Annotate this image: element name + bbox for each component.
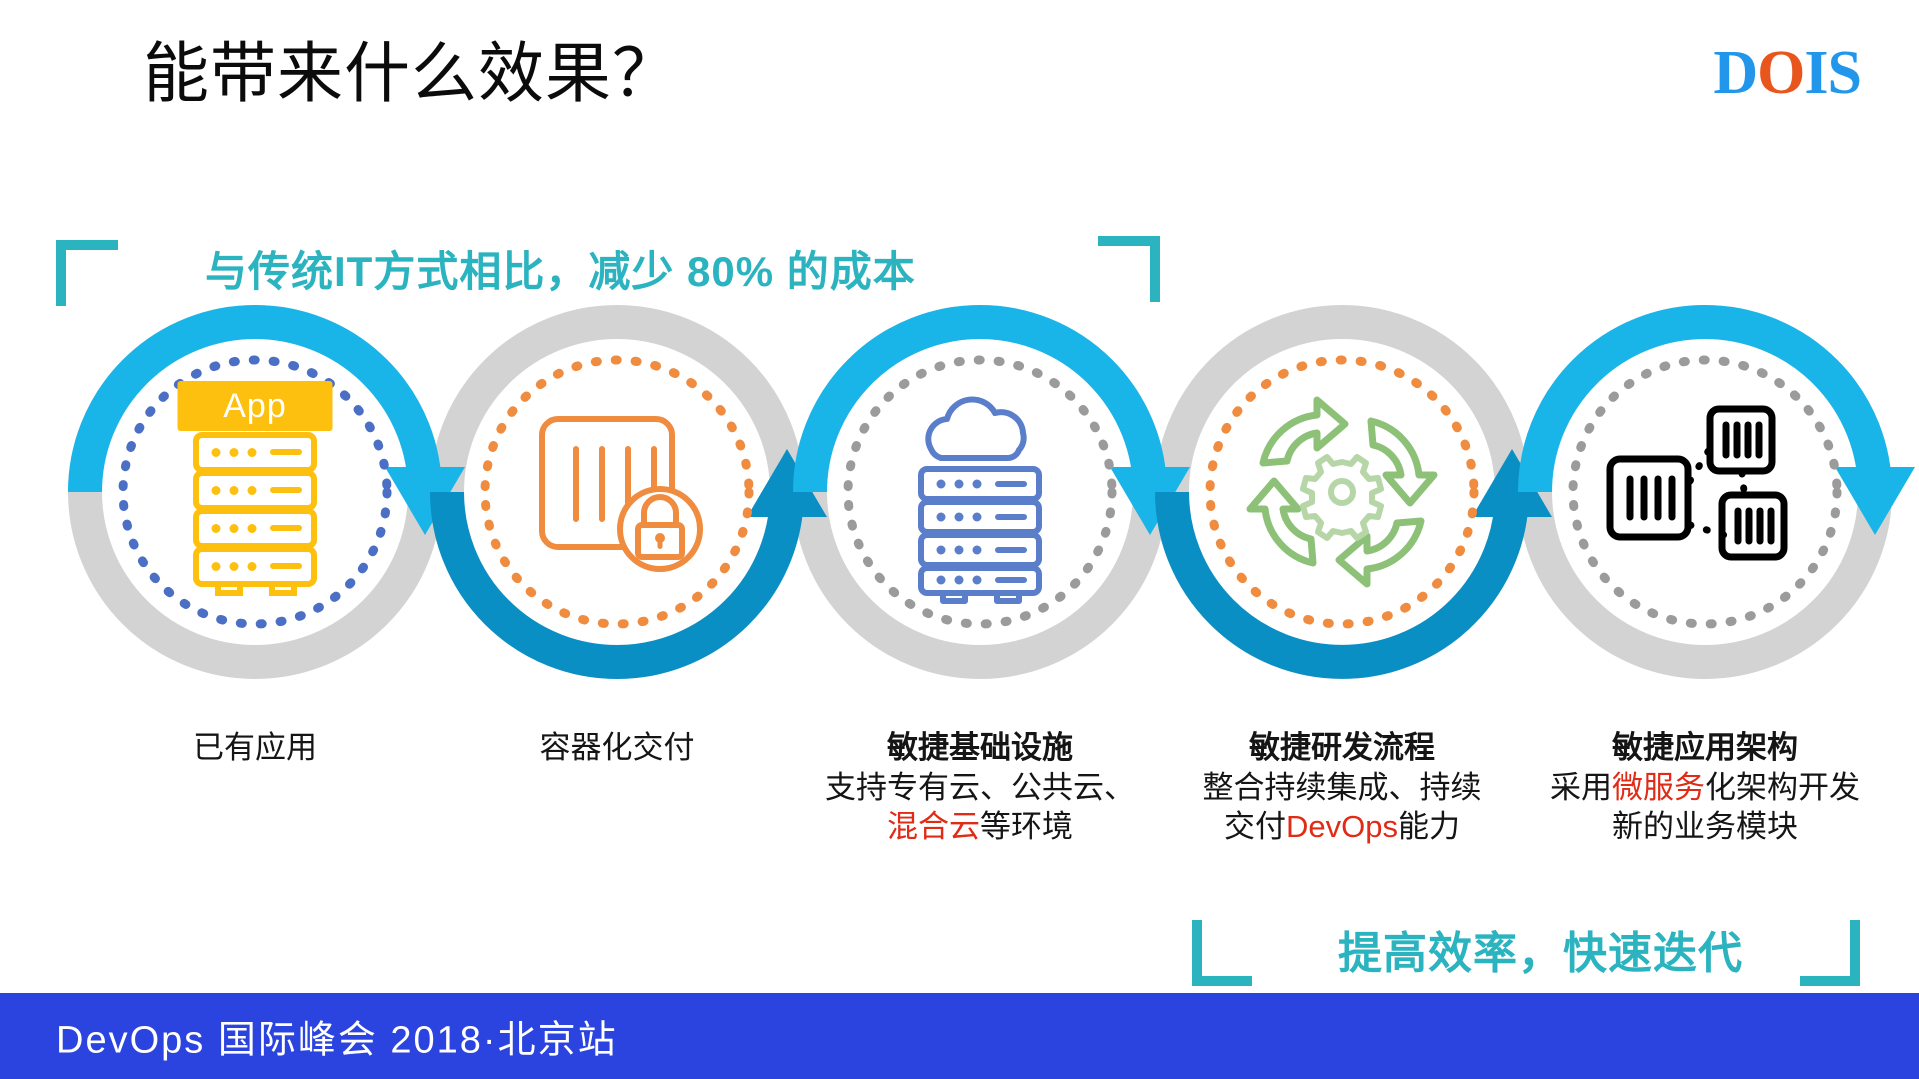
microservices-icon — [1590, 377, 1820, 607]
caption-5-line-2: 新的业务模块 — [1540, 807, 1870, 847]
logo-letter-o: O — [1757, 39, 1804, 107]
stage-icon-2 — [502, 377, 732, 607]
slide-root: 能带来什么效果？ DOIS 与传统IT方式相比，减少 80% 的成本 提高效率，… — [0, 0, 1919, 1079]
caption-5-line-1-pre: 采用 — [1550, 770, 1612, 805]
caption-4-title: 敏捷研发流程 — [1177, 728, 1507, 768]
stage-icon-4 — [1227, 377, 1457, 607]
callout-bottom-text: 提高效率，快速迭代 — [1338, 917, 1743, 981]
caption-5-line-1: 采用微服务化架构开发 — [1540, 768, 1870, 808]
caption-4-line-2: 交付DevOps能力 — [1177, 807, 1507, 847]
caption-3-highlight: 混合云 — [887, 809, 980, 844]
icon-layer: App — [0, 285, 1919, 700]
app-badge: App — [178, 381, 333, 431]
page-title: 能带来什么效果？ — [143, 36, 679, 112]
cloud-server-icon — [865, 377, 1095, 607]
cycle-gear-icon — [1227, 377, 1457, 607]
bracket-bottom-right — [1800, 920, 1860, 986]
caption-5: 敏捷应用架构 采用微服务化架构开发 新的业务模块 — [1540, 728, 1870, 847]
caption-5-highlight: 微服务 — [1612, 770, 1705, 805]
caption-4-line-2-pre: 交付 — [1224, 809, 1286, 844]
caption-5-line-1-rest: 化架构开发 — [1705, 770, 1860, 805]
caption-3-line-1: 支持专有云、公共云、 — [815, 768, 1145, 808]
caption-4-line-2-rest: 能力 — [1398, 809, 1460, 844]
dois-logo: DOIS — [1713, 42, 1861, 104]
caption-layer: 已有应用 容器化交付 敏捷基础设施 支持专有云、公共云、 混合云等环境 敏捷研发… — [0, 728, 1919, 888]
footer-text: DevOps 国际峰会 2018·北京站 — [56, 1009, 618, 1064]
caption-2: 容器化交付 — [452, 728, 782, 768]
caption-3-title: 敏捷基础设施 — [815, 728, 1145, 768]
caption-3: 敏捷基础设施 支持专有云、公共云、 混合云等环境 — [815, 728, 1145, 847]
caption-5-title: 敏捷应用架构 — [1540, 728, 1870, 768]
caption-1-line-1: 已有应用 — [90, 728, 420, 768]
caption-1: 已有应用 — [90, 728, 420, 768]
footer-bar: DevOps 国际峰会 2018·北京站 — [0, 993, 1919, 1079]
container-lock-icon — [502, 377, 732, 607]
caption-4-highlight: DevOps — [1286, 809, 1398, 844]
bracket-bottom-left — [1192, 920, 1252, 986]
caption-4: 敏捷研发流程 整合持续集成、持续 交付DevOps能力 — [1177, 728, 1507, 847]
logo-letter-is: IS — [1804, 39, 1861, 107]
caption-3-line-2: 混合云等环境 — [815, 807, 1145, 847]
caption-3-line-2-rest: 等环境 — [980, 809, 1073, 844]
caption-4-line-1: 整合持续集成、持续 — [1177, 768, 1507, 808]
stage-icon-1: App — [140, 377, 370, 607]
stage-icon-5 — [1590, 377, 1820, 607]
stage-icon-3 — [865, 377, 1095, 607]
logo-letter-d: D — [1713, 39, 1757, 107]
caption-2-line-1: 容器化交付 — [452, 728, 782, 768]
